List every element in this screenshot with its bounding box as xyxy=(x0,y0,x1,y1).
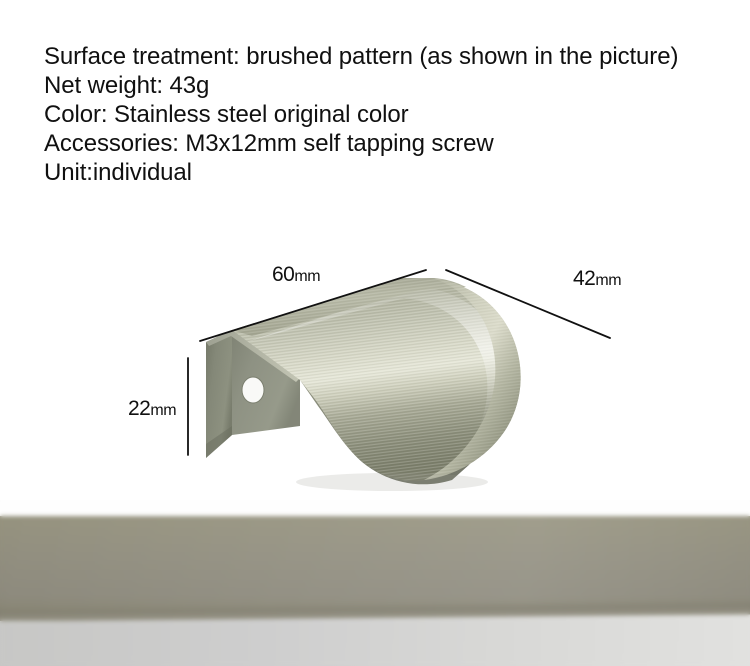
spec-line-surface-treatment: Surface treatment: brushed pattern (as s… xyxy=(44,42,744,71)
product-dimension-diagram: 60mm 42mm 22mm xyxy=(0,230,750,500)
dimension-label-60mm: 60mm xyxy=(272,263,320,287)
specification-list: Surface treatment: brushed pattern (as s… xyxy=(44,42,744,187)
photo-top-white-strip xyxy=(0,500,750,517)
product-detail-image: Surface treatment: brushed pattern (as s… xyxy=(0,0,750,666)
handle-illustration xyxy=(0,230,750,500)
lifestyle-photo-band xyxy=(0,500,750,666)
dimension-label-42mm: 42mm xyxy=(573,267,621,291)
spec-line-unit: Unit:individual xyxy=(44,158,744,187)
spec-line-accessories: Accessories: M3x12mm self tapping screw xyxy=(44,129,744,158)
spec-line-net-weight: Net weight: 43g xyxy=(44,71,744,100)
dimension-label-22mm: 22mm xyxy=(128,397,176,421)
screw-hole xyxy=(242,377,264,403)
spec-line-color: Color: Stainless steel original color xyxy=(44,100,744,129)
photo-lower-surface xyxy=(0,614,750,666)
handle-drop-shadow xyxy=(296,473,488,491)
